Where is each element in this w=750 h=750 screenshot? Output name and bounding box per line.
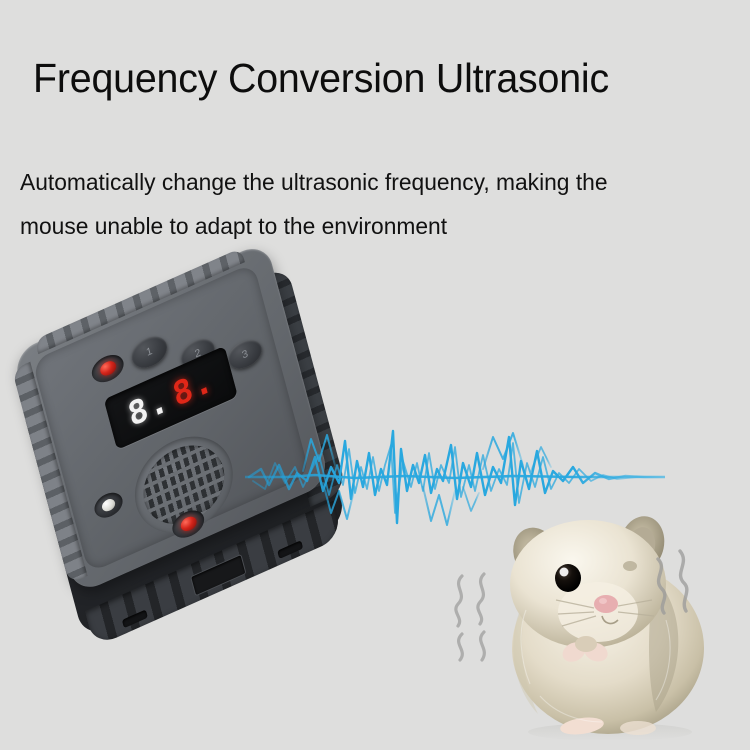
- display-digit-left: 8.: [125, 384, 172, 432]
- led-top: [89, 350, 126, 387]
- vibration-lines-right: [640, 543, 710, 623]
- page-title: Frequency Conversion Ultrasonic: [33, 53, 609, 103]
- button-3[interactable]: 3: [225, 335, 264, 374]
- button-1[interactable]: 1: [128, 331, 170, 373]
- subtitle-line-1: Automatically change the ultrasonic freq…: [20, 160, 718, 204]
- vibration-lines-left: [448, 572, 518, 667]
- led-indicator-bulb: [101, 497, 117, 513]
- led-top-bulb: [98, 359, 117, 379]
- page-subtitle: Automatically change the ultrasonic freq…: [20, 160, 718, 248]
- product-feature-banner: Frequency Conversion Ultrasonic Automati…: [0, 0, 750, 750]
- hamster-foot-right: [620, 721, 656, 735]
- vent-slot-left: [122, 609, 148, 628]
- subtitle-line-2: mouse unable to adapt to the environment: [20, 204, 718, 248]
- button-3-label: 3: [241, 348, 249, 361]
- led-display: 8. 8.: [104, 346, 238, 450]
- display-digit-right: 8.: [169, 364, 216, 412]
- hamster-eye-right: [623, 561, 637, 571]
- usb-port: [190, 554, 246, 597]
- led-bottom-bulb: [179, 514, 198, 534]
- hamster-eye-left: [555, 564, 581, 592]
- led-indicator: [92, 488, 125, 522]
- hamster-nose: [594, 595, 618, 613]
- button-1-label: 1: [145, 345, 153, 358]
